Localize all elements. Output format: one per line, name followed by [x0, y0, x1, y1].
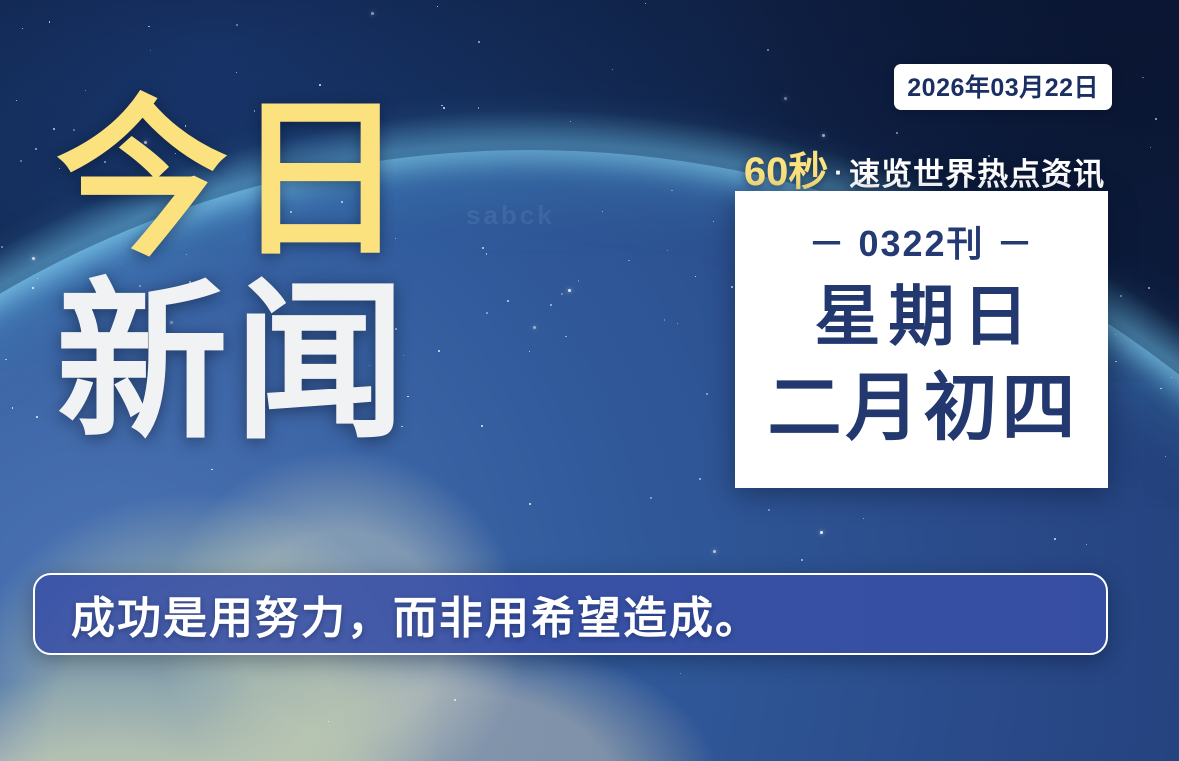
poster-title: 今日 新闻: [56, 96, 412, 447]
date-info-card: － 0322刊 － 星期日 二月初四: [735, 191, 1108, 488]
tagline-text: 速览世界热点资讯: [849, 149, 1105, 194]
issue-number: － 0322刊 －: [808, 215, 1034, 267]
quote-banner: 成功是用努力，而非用希望造成。: [33, 573, 1108, 655]
tagline: 60秒 · 速览世界热点资讯: [741, 139, 1108, 197]
news-poster: sabck 今日 新闻 2026年03月22日 60秒 · 速览世界热点资讯 －…: [0, 0, 1179, 761]
lunar-date-label: 二月初四: [764, 371, 1080, 445]
quote-text: 成功是用努力，而非用希望造成。: [35, 582, 761, 646]
title-line-xinwen: 新闻: [56, 279, 412, 448]
tagline-seconds: 60秒: [744, 139, 829, 197]
title-line-jinri: 今日: [56, 96, 412, 265]
tagline-separator-dot: ·: [832, 157, 845, 188]
weekday-label: 星期日: [807, 283, 1037, 349]
date-badge: 2026年03月22日: [894, 64, 1112, 110]
